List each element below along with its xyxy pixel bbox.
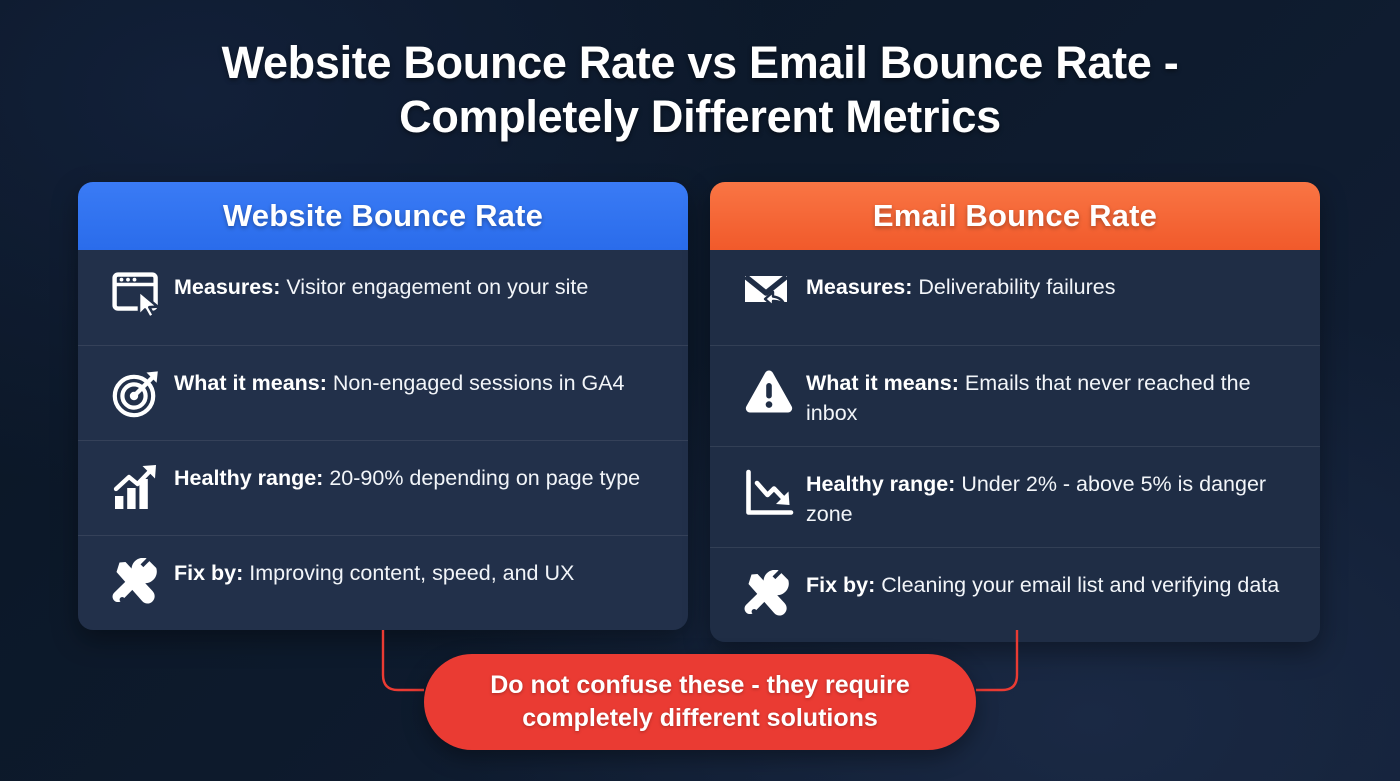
row-label: Measures: (174, 275, 286, 299)
row-email-healthy-range-text: Healthy range: Under 2% - above 5% is da… (806, 465, 1300, 529)
warning-callout-text: Do not confuse these - they require comp… (464, 669, 936, 735)
row-value: Deliverability failures (918, 275, 1115, 299)
row-label: Fix by: (174, 561, 249, 585)
card-website-header: Website Bounce Rate (78, 182, 688, 250)
row-email-measures-text: Measures: Deliverability failures (806, 268, 1300, 302)
row-email-fix-by: Fix by: Cleaning your email list and ver… (710, 547, 1320, 642)
card-website-bounce-rate: Website Bounce Rate Measures: Visitor e (78, 182, 688, 630)
warning-triangle-icon (732, 364, 806, 414)
row-website-measures: Measures: Visitor engagement on your sit… (78, 250, 688, 345)
card-email-body: Measures: Deliverability failures What i… (710, 250, 1320, 642)
row-email-measures: Measures: Deliverability failures (710, 250, 1320, 345)
row-value: Cleaning your email list and verifying d… (881, 573, 1279, 597)
row-email-what-it-means: What it means: Emails that never reached… (710, 345, 1320, 446)
row-label: Measures: (806, 275, 918, 299)
row-website-healthy-range-text: Healthy range: 20-90% depending on page … (174, 459, 668, 493)
envelope-return-icon (732, 268, 806, 316)
line-chart-falling-icon (732, 465, 806, 517)
row-website-fix-by-text: Fix by: Improving content, speed, and UX (174, 554, 668, 588)
row-label: What it means: (806, 371, 965, 395)
row-email-fix-by-text: Fix by: Cleaning your email list and ver… (806, 566, 1300, 600)
warning-line-2: completely different solutions (522, 704, 878, 732)
page-title: Website Bounce Rate vs Email Bounce Rate… (130, 36, 1270, 144)
wrench-screwdriver-icon (732, 566, 806, 620)
bar-chart-rising-icon (100, 459, 174, 511)
row-value: Improving content, speed, and UX (249, 561, 574, 585)
card-email-header: Email Bounce Rate (710, 182, 1320, 250)
row-website-fix-by: Fix by: Improving content, speed, and UX (78, 535, 688, 630)
row-email-what-it-means-text: What it means: Emails that never reached… (806, 364, 1300, 428)
wrench-screwdriver-icon (100, 554, 174, 608)
card-website-body: Measures: Visitor engagement on your sit… (78, 250, 688, 630)
browser-window-cursor-icon (100, 268, 174, 318)
row-label: Healthy range: (174, 466, 329, 490)
row-value: 20-90% depending on page type (329, 466, 640, 490)
row-value: Visitor engagement on your site (286, 275, 588, 299)
row-website-measures-text: Measures: Visitor engagement on your sit… (174, 268, 668, 302)
target-arrow-icon (100, 364, 174, 418)
row-website-healthy-range: Healthy range: 20-90% depending on page … (78, 440, 688, 535)
row-label: What it means: (174, 371, 333, 395)
row-value: Non-engaged sessions in GA4 (333, 371, 625, 395)
row-website-what-it-means: What it means: Non-engaged sessions in G… (78, 345, 688, 440)
warning-line-1: Do not confuse these - they require (490, 671, 910, 699)
row-website-what-it-means-text: What it means: Non-engaged sessions in G… (174, 364, 668, 398)
warning-callout: Do not confuse these - they require comp… (424, 654, 976, 750)
row-label: Fix by: (806, 573, 881, 597)
row-email-healthy-range: Healthy range: Under 2% - above 5% is da… (710, 446, 1320, 547)
card-email-bounce-rate: Email Bounce Rate Measures: Deliverabili… (710, 182, 1320, 642)
row-label: Healthy range: (806, 472, 961, 496)
